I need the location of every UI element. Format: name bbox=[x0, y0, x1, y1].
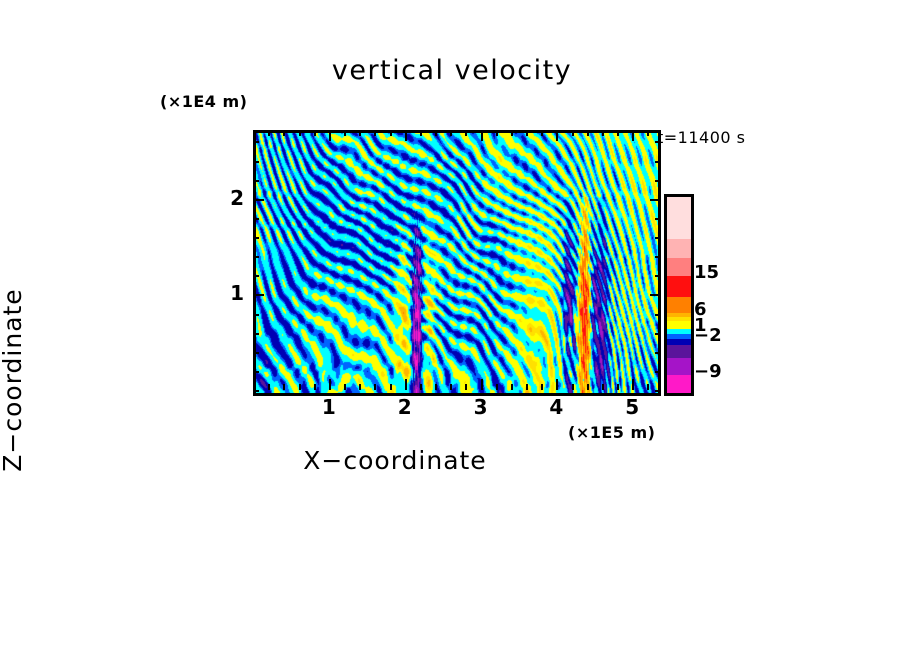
z-minor-tick bbox=[253, 256, 259, 258]
z-minor-tick-right bbox=[655, 333, 661, 335]
x-minor-tick-top bbox=[359, 130, 361, 136]
colorbar-band bbox=[667, 297, 691, 313]
x-minor-tick bbox=[299, 384, 301, 390]
z-minor-tick-right bbox=[655, 218, 661, 220]
z-minor-tick bbox=[253, 390, 259, 392]
z-major-tick-right bbox=[650, 294, 661, 296]
z-minor-tick bbox=[253, 371, 259, 373]
x-minor-tick-top bbox=[496, 130, 498, 136]
x-minor-tick-top bbox=[420, 130, 422, 136]
x-minor-tick bbox=[268, 384, 270, 390]
z-minor-tick bbox=[253, 314, 259, 316]
z-minor-tick bbox=[253, 161, 259, 163]
z-minor-tick-right bbox=[655, 256, 661, 258]
x-minor-tick-top bbox=[344, 130, 346, 136]
x-major-tick-top bbox=[632, 130, 634, 141]
colorbar-tick-label: 15 bbox=[694, 262, 719, 283]
colorbar-tick-label: −9 bbox=[694, 361, 722, 382]
colorbar-band bbox=[667, 258, 691, 276]
x-minor-tick-top bbox=[268, 130, 270, 136]
x-minor-tick-top bbox=[314, 130, 316, 136]
z-minor-tick-right bbox=[655, 314, 661, 316]
x-major-tick bbox=[481, 379, 483, 390]
z-minor-tick bbox=[253, 352, 259, 354]
x-tick-label: 5 bbox=[617, 395, 647, 419]
x-minor-tick bbox=[314, 384, 316, 390]
x-axis-unit-label: (×1E5 m) bbox=[568, 423, 655, 442]
contour-plot-area[interactable] bbox=[253, 130, 661, 396]
z-minor-tick bbox=[253, 218, 259, 220]
x-minor-tick-top bbox=[602, 130, 604, 136]
x-tick-label: 4 bbox=[541, 395, 571, 419]
x-minor-tick-top bbox=[572, 130, 574, 136]
x-minor-tick bbox=[511, 384, 513, 390]
z-minor-tick bbox=[253, 333, 259, 335]
x-minor-tick-top bbox=[390, 130, 392, 136]
x-minor-tick bbox=[617, 384, 619, 390]
z-tick-label: 2 bbox=[222, 186, 244, 210]
colorbar-band bbox=[667, 197, 691, 239]
x-minor-tick-top bbox=[253, 130, 255, 136]
z-minor-tick-right bbox=[655, 390, 661, 392]
z-tick-label: 1 bbox=[222, 281, 244, 305]
x-minor-tick bbox=[374, 384, 376, 390]
z-minor-tick bbox=[253, 275, 259, 277]
x-minor-tick bbox=[602, 384, 604, 390]
colorbar-tick-label: −2 bbox=[694, 325, 722, 346]
z-minor-tick bbox=[253, 180, 259, 182]
z-major-tick-right bbox=[650, 199, 661, 201]
x-minor-tick-top bbox=[647, 130, 649, 136]
figure-canvas: vertical velocity (×1E4 m) t=11400 s X−c… bbox=[0, 0, 904, 654]
z-minor-tick-right bbox=[655, 275, 661, 277]
x-minor-tick-top bbox=[465, 130, 467, 136]
colorbar-band bbox=[667, 239, 691, 258]
colorbar-band bbox=[667, 345, 691, 358]
x-minor-tick bbox=[450, 384, 452, 390]
z-major-tick bbox=[253, 199, 264, 201]
x-minor-tick bbox=[283, 384, 285, 390]
x-minor-tick bbox=[541, 384, 543, 390]
colorbar-band bbox=[667, 321, 691, 328]
z-minor-tick-right bbox=[655, 180, 661, 182]
x-major-tick bbox=[405, 379, 407, 390]
page-title: vertical velocity bbox=[0, 55, 904, 86]
z-minor-tick-right bbox=[655, 352, 661, 354]
x-minor-tick bbox=[647, 384, 649, 390]
x-major-tick-top bbox=[329, 130, 331, 141]
x-minor-tick bbox=[526, 384, 528, 390]
x-minor-tick-top bbox=[299, 130, 301, 136]
x-major-tick bbox=[632, 379, 634, 390]
x-minor-tick-top bbox=[374, 130, 376, 136]
x-minor-tick-top bbox=[450, 130, 452, 136]
x-minor-tick bbox=[465, 384, 467, 390]
x-minor-tick bbox=[359, 384, 361, 390]
x-minor-tick bbox=[420, 384, 422, 390]
x-minor-tick bbox=[435, 384, 437, 390]
x-minor-tick-top bbox=[587, 130, 589, 136]
x-minor-tick bbox=[587, 384, 589, 390]
x-major-tick-top bbox=[556, 130, 558, 141]
colorbar-band bbox=[667, 276, 691, 297]
x-minor-tick bbox=[390, 384, 392, 390]
x-major-tick-top bbox=[481, 130, 483, 141]
colorbar[interactable] bbox=[664, 194, 694, 396]
x-major-tick-top bbox=[405, 130, 407, 141]
x-minor-tick bbox=[496, 384, 498, 390]
x-tick-label: 2 bbox=[390, 395, 420, 419]
z-major-tick bbox=[253, 294, 264, 296]
vertical-velocity-field bbox=[256, 133, 658, 393]
z-minor-tick-right bbox=[655, 141, 661, 143]
x-major-tick bbox=[556, 379, 558, 390]
x-minor-tick-top bbox=[526, 130, 528, 136]
z-axis-unit-label: (×1E4 m) bbox=[160, 92, 247, 111]
x-minor-tick-top bbox=[511, 130, 513, 136]
z-minor-tick-right bbox=[655, 161, 661, 163]
z-axis-title: Z−coordinate bbox=[0, 170, 27, 590]
x-minor-tick-top bbox=[283, 130, 285, 136]
colorbar-band bbox=[667, 358, 691, 376]
x-minor-tick-top bbox=[617, 130, 619, 136]
x-tick-label: 1 bbox=[314, 395, 344, 419]
z-minor-tick bbox=[253, 237, 259, 239]
colorbar-band bbox=[667, 375, 691, 393]
x-major-tick bbox=[329, 379, 331, 390]
time-annotation: t=11400 s bbox=[657, 128, 746, 147]
x-tick-label: 3 bbox=[466, 395, 496, 419]
x-minor-tick bbox=[344, 384, 346, 390]
x-minor-tick-top bbox=[541, 130, 543, 136]
x-axis-title: X−coordinate bbox=[0, 446, 790, 475]
z-minor-tick-right bbox=[655, 237, 661, 239]
x-minor-tick bbox=[572, 384, 574, 390]
x-minor-tick-top bbox=[435, 130, 437, 136]
z-minor-tick-right bbox=[655, 371, 661, 373]
z-minor-tick bbox=[253, 141, 259, 143]
